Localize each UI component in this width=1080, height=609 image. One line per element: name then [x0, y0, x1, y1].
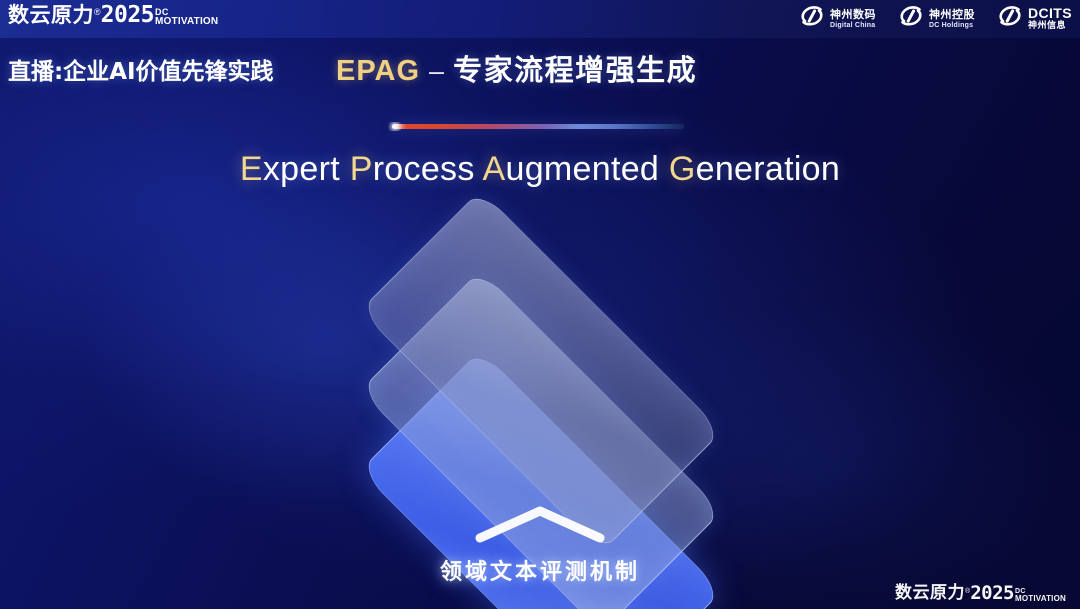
corp-logo-text: DCITS 神州信息: [1028, 6, 1072, 31]
corp-logo-dcits: DCITS 神州信息: [997, 4, 1072, 33]
header-bar: 数云原力 ® 2025 DC MOTIVATION: [0, 0, 1080, 38]
page-subtitle: Expert Process Augmented Generation: [0, 150, 1080, 189]
corp-logo-text: 神州数码 Digital China: [830, 9, 876, 29]
page-title-dash: –: [429, 56, 444, 86]
footer-brand-year: 2025: [970, 585, 1014, 602]
footer-brand-motivation-label: MOTIVATION: [1015, 595, 1066, 603]
footer-brand-logo: 数云原力 ® 2025 DC MOTIVATION: [895, 585, 1066, 602]
corp-name-en: DCITS: [1028, 6, 1072, 20]
layered-architecture-diagram: 领域文本评测机制 Dynamic MOE 长文本记忆 三类语义建模模块: [290, 226, 790, 571]
corp-name-cn: 神州控股: [929, 9, 975, 20]
corp-name-cn: 神州信息: [1028, 22, 1072, 31]
slide-canvas: 数云原力 ® 2025 DC MOTIVATION: [0, 0, 1080, 609]
page-title-acronym: EPAG: [336, 55, 420, 87]
brand-name-cn: 数云原力: [8, 5, 94, 26]
subtitle-initial-g: G: [669, 150, 696, 188]
brand-logo: 数云原力 ® 2025 DC MOTIVATION: [8, 5, 218, 26]
subtitle-initial-p: P: [350, 150, 373, 188]
title-divider: [392, 124, 684, 129]
footer-brand-name-cn: 数云原力: [895, 585, 965, 602]
swirl-icon: [997, 4, 1023, 33]
brand-motivation-label: MOTIVATION: [155, 17, 218, 27]
corp-logo-dc-holdings: 神州控股 DC Holdings: [898, 4, 975, 33]
swirl-icon: [898, 4, 924, 33]
subtitle-word-generation: eneration: [696, 150, 840, 188]
page-title-chinese: 专家流程增强生成: [453, 53, 697, 87]
footer-brand-dc-motivation: DC MOTIVATION: [1015, 588, 1066, 603]
page-title: EPAG–专家流程增强生成: [336, 53, 697, 88]
subtitle-space-3: [659, 150, 669, 188]
subtitle-initial-a: A: [483, 150, 506, 188]
subtitle-word-augmented: ugmented: [506, 150, 660, 188]
corp-logo-text: 神州控股 DC Holdings: [929, 9, 975, 29]
swirl-icon: [799, 4, 825, 33]
subtitle-word-expert: xpert: [263, 150, 340, 188]
subtitle-word-process: rocess: [373, 150, 475, 188]
subtitle-space-2: [475, 150, 483, 188]
brand-dc-motivation: DC MOTIVATION: [155, 8, 218, 27]
corporate-logo-group: 神州数码 Digital China 神州控股 DC H: [799, 4, 1072, 33]
brand-year: 2025: [101, 5, 154, 26]
corp-name-en: Digital China: [830, 22, 876, 29]
footer-brand-registered-mark: ®: [965, 588, 970, 595]
subtitle-space-1: [340, 150, 350, 188]
chevron-up-icon: [472, 502, 608, 546]
corp-name-en: DC Holdings: [929, 22, 975, 29]
brand-registered-mark: ®: [94, 8, 101, 17]
live-stream-title: 直播:企业AI价值先锋实践: [8, 52, 274, 86]
corp-name-cn: 神州数码: [830, 9, 876, 20]
layer-label-top: 领域文本评测机制: [290, 554, 790, 586]
corp-logo-digital-china: 神州数码 Digital China: [799, 4, 876, 33]
subtitle-initial-e: E: [240, 150, 263, 188]
